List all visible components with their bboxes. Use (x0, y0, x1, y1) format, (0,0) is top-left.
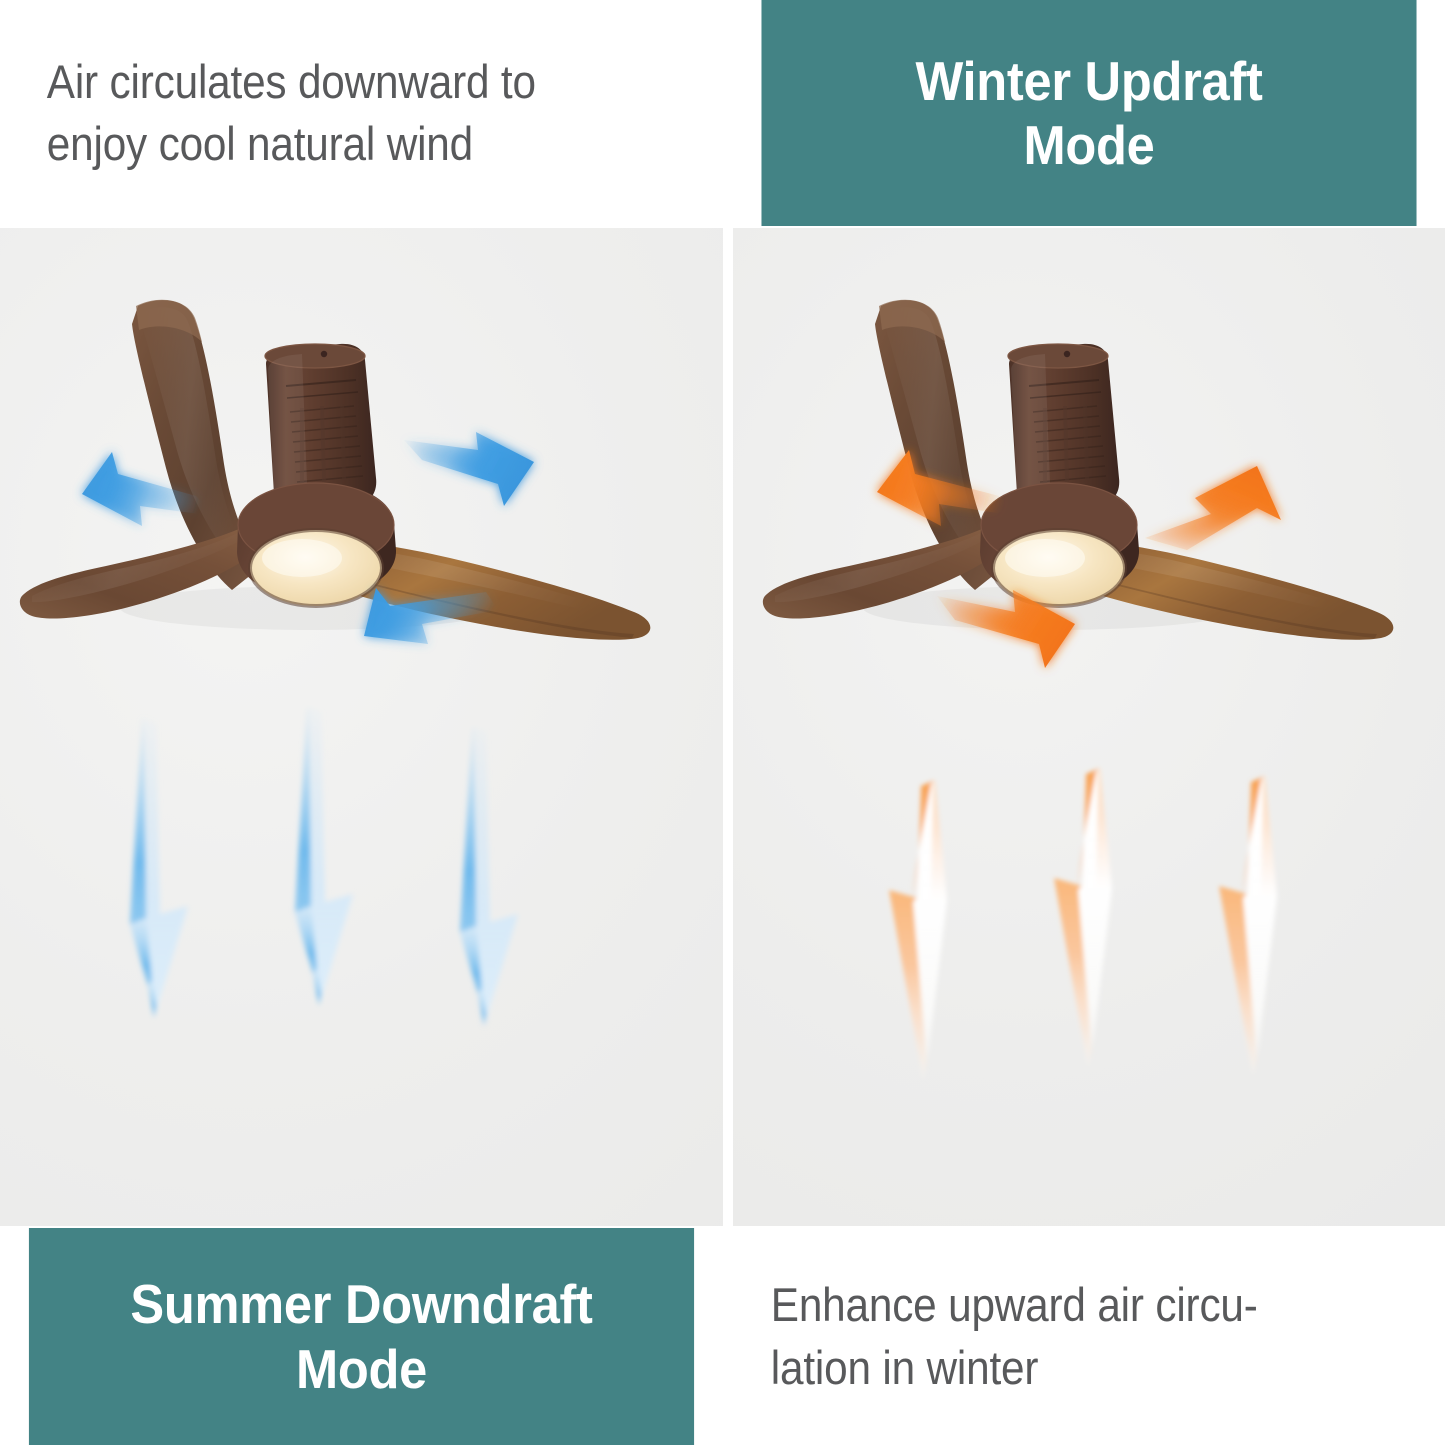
heading-winter-line-1: Winter Updraft (793, 49, 1385, 113)
heading-winter-line-2: Mode (793, 113, 1385, 177)
heading-summer-line-1: Summer Downdraft (53, 1272, 670, 1336)
caption-top-left-line-2: enjoy cool natural wind (47, 113, 604, 176)
airflow-arrow-orange-lower (933, 574, 1123, 694)
airflow-arrow-orange-left (843, 444, 1023, 554)
downdraft-stream-2 (295, 706, 353, 1006)
caption-bottom-right-line-1: Enhance upward air circu- (771, 1274, 1336, 1337)
heading-summer-line-2: Mode (53, 1337, 670, 1401)
panel-summer-downdraft (0, 228, 723, 1226)
updraft-stream-group (863, 750, 1343, 1150)
updraft-stream-1 (889, 780, 947, 1080)
airflow-arrow-blue-left-upper (52, 444, 222, 554)
caption-bottom-right: Enhance upward air circu- lation in wint… (733, 1228, 1374, 1445)
downdraft-stream-3 (460, 726, 518, 1026)
heading-summer-downdraft-mode: Summer Downdraft Mode (29, 1228, 694, 1445)
downdraft-stream-group (100, 698, 600, 1118)
airflow-arrow-blue-right (400, 414, 580, 529)
updraft-stream-3 (1219, 776, 1277, 1076)
airflow-arrow-blue-left-lower (336, 580, 506, 690)
panel-winter-updraft (733, 228, 1445, 1226)
heading-winter-updraft-mode: Winter Updraft Mode (761, 0, 1416, 226)
airflow-arrow-orange-right (1141, 434, 1321, 554)
caption-bottom-right-line-2: lation in winter (771, 1337, 1336, 1400)
infographic-canvas: Air circulates downward to enjoy cool na… (0, 0, 1445, 1445)
caption-top-left: Air circulates downward to enjoy cool na… (0, 0, 651, 226)
caption-top-left-line-1: Air circulates downward to (47, 51, 604, 114)
downdraft-stream-1 (130, 718, 188, 1018)
updraft-stream-2 (1054, 768, 1112, 1068)
